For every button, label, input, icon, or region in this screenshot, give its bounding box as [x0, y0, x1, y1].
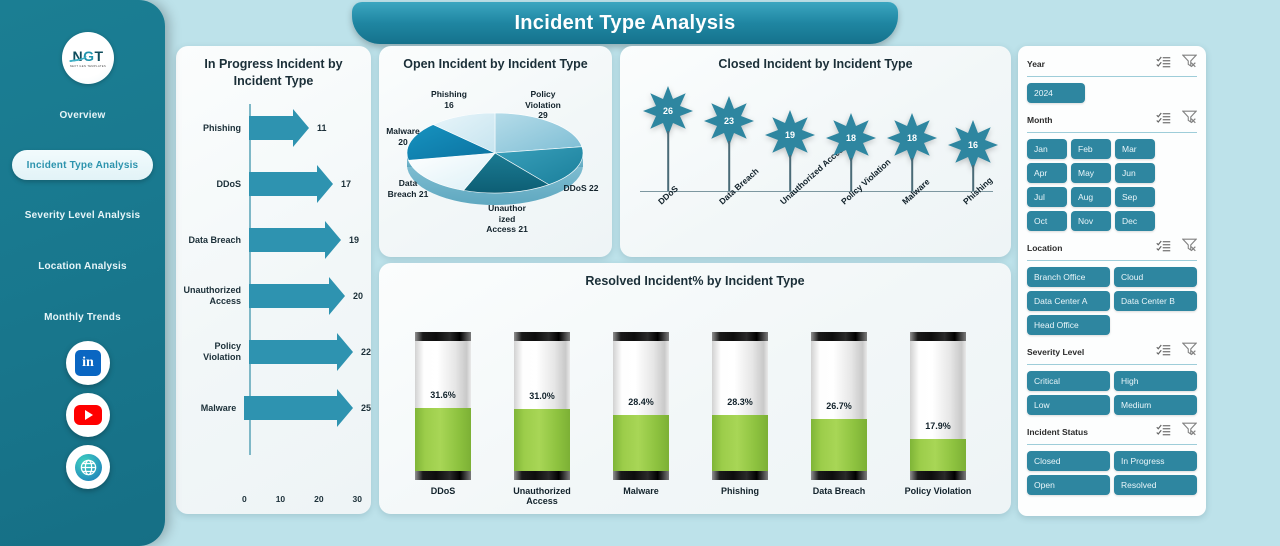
sidebar-item-label: Severity Level Analysis	[25, 210, 140, 221]
bar-value-label: 20	[353, 291, 363, 301]
select-all-icon[interactable]	[1156, 111, 1171, 129]
x-axis-ticks: 0102030	[242, 494, 362, 504]
sidebar: NGT NEXT GEN TEMPLATES Overview Incident…	[0, 0, 165, 546]
filter-group-header: Month	[1027, 110, 1197, 133]
x-axis-line	[640, 191, 993, 193]
filter-chip[interactable]: Apr	[1027, 163, 1067, 183]
filter-group-title: Year	[1027, 59, 1045, 69]
filter-chip[interactable]: 2024	[1027, 83, 1085, 103]
star-icon: 16	[947, 119, 999, 171]
cylinder-value-label: 17.9%	[896, 421, 980, 431]
bar-arrow	[249, 172, 317, 196]
cylinder-cap-bottom	[910, 471, 966, 480]
cylinder-cap-bottom	[415, 471, 471, 480]
star-marker-group: 23	[699, 95, 759, 147]
bar-category-label: UnauthorizedAccess	[176, 285, 246, 306]
sidebar-item-severity-level-analysis[interactable]: Severity Level Analysis	[12, 200, 153, 230]
sidebar-item-label: Location Analysis	[38, 261, 127, 272]
clear-filter-icon[interactable]	[1182, 110, 1197, 129]
bar-value-label: 19	[349, 235, 359, 245]
filter-chip[interactable]: In Progress	[1114, 451, 1197, 471]
sidebar-item-label: Overview	[59, 110, 105, 121]
filter-chip[interactable]: Closed	[1027, 451, 1110, 471]
cylinder-cap-bottom	[613, 471, 669, 480]
bar-category-label: Data Breach	[176, 235, 246, 245]
star-marker-group: 19	[760, 109, 820, 161]
filter-chip[interactable]: Mar	[1115, 139, 1155, 159]
youtube-link[interactable]	[66, 393, 110, 437]
filter-chip[interactable]: Critical	[1027, 371, 1110, 391]
cylinder-group: 17.9%Policy Violation	[896, 332, 980, 496]
filter-chip[interactable]: May	[1071, 163, 1111, 183]
bar-row: Policy Violation22	[176, 324, 371, 380]
bar-arrow	[249, 228, 325, 252]
x-tick-label: 0	[242, 494, 247, 504]
bar-value-label: 11	[317, 123, 327, 133]
cylinder-fill	[514, 409, 570, 480]
logo-tagline: NEXT GEN TEMPLATES	[70, 65, 106, 68]
cylinder-group: 28.3%Phishing	[698, 332, 782, 496]
filter-group-title: Severity Level	[1027, 347, 1084, 357]
chart-in-progress-incident: In Progress Incident by Incident Type Ph…	[176, 46, 371, 514]
filter-chip[interactable]: Branch Office	[1027, 267, 1110, 287]
x-tick-label: 20	[314, 494, 323, 504]
chart-resolved-incident-pct: Resolved Incident% by Incident Type 31.6…	[379, 263, 1011, 514]
linkedin-icon: in	[75, 350, 101, 376]
filter-chip[interactable]: Cloud	[1114, 267, 1197, 287]
clear-filter-icon[interactable]	[1182, 422, 1197, 441]
filter-chip[interactable]: Open	[1027, 475, 1110, 495]
cylinder-category-label: Data Breach	[797, 486, 881, 496]
filter-chip-list: Branch OfficeCloudData Center AData Cent…	[1027, 267, 1197, 335]
globe-icon	[75, 454, 102, 481]
sidebar-item-label: Incident Type Analysis	[27, 160, 139, 171]
cylinder-cap-bottom	[811, 471, 867, 480]
star-stem	[728, 141, 730, 191]
star-value-label: 18	[825, 112, 877, 164]
pie-chart-plot-area: PolicyViolation29 Phishing16 Malware20 D…	[379, 73, 612, 258]
cylinder-group: 26.7%Data Breach	[797, 332, 881, 496]
filter-chip-list: CriticalHighLowMedium	[1027, 371, 1197, 415]
youtube-icon	[74, 405, 102, 425]
cylinder-category-label: Phishing	[698, 486, 782, 496]
pie-label-ddos: DDoS 22	[549, 183, 613, 194]
bar-row: Malware25	[176, 380, 371, 436]
filter-group-header: Year	[1027, 54, 1197, 77]
filter-chip[interactable]: Data Center B	[1114, 291, 1197, 311]
pie-label-phishing: Phishing16	[414, 89, 484, 110]
star-icon: 23	[703, 95, 755, 147]
star-value-label: 16	[947, 119, 999, 171]
sidebar-item-incident-type-analysis[interactable]: Incident Type Analysis	[12, 150, 153, 180]
pie-label-policy-violation: PolicyViolation29	[503, 89, 583, 121]
bar-value-label: 22	[361, 347, 371, 357]
filter-chip[interactable]: Resolved	[1114, 475, 1197, 495]
cylinder-cap-top	[613, 332, 669, 341]
cylinder-cap-top	[811, 332, 867, 341]
filter-chip[interactable]: Head Office	[1027, 315, 1110, 335]
bar-arrow	[249, 340, 337, 364]
filter-chip-list: ClosedIn ProgressOpenResolved	[1027, 451, 1197, 495]
filter-group-header: Severity Level	[1027, 342, 1197, 365]
star-icon: 18	[886, 112, 938, 164]
cylinder-cap-top	[712, 332, 768, 341]
filter-chip-list: 2024	[1027, 83, 1197, 103]
bar-row: UnauthorizedAccess20	[176, 268, 371, 324]
star-category-label: DDoS	[656, 183, 680, 206]
cylinder-cap-bottom	[514, 471, 570, 480]
page-header-banner: Incident Type Analysis	[352, 2, 898, 44]
bar-row: DDoS17	[176, 156, 371, 212]
filter-group-severity-level: Severity LevelCriticalHighLowMedium	[1027, 342, 1197, 415]
select-all-icon[interactable]	[1156, 239, 1171, 257]
cylinder-group: 31.6%DDoS	[401, 332, 485, 496]
star-stem	[667, 131, 669, 191]
cylinder-cap-top	[415, 332, 471, 341]
sidebar-item-overview[interactable]: Overview	[12, 100, 153, 130]
filter-group-location: LocationBranch OfficeCloudData Center AD…	[1027, 238, 1197, 335]
filter-chip[interactable]: Nov	[1071, 211, 1111, 231]
filter-chip[interactable]: High	[1114, 371, 1197, 391]
chart-title-line2: Incident Type	[234, 74, 314, 88]
star-icon: 26	[642, 85, 694, 137]
bar-row: Data Breach19	[176, 212, 371, 268]
cylinder-cap-bottom	[712, 471, 768, 480]
cylinder-value-label: 28.3%	[698, 397, 782, 407]
cylinder-value-label: 31.0%	[500, 391, 584, 401]
filter-group-year: Year2024	[1027, 54, 1197, 103]
filter-group-title: Month	[1027, 115, 1053, 125]
clear-filter-icon[interactable]	[1182, 238, 1197, 257]
filter-chip[interactable]: Aug	[1071, 187, 1111, 207]
filter-panel: Year2024MonthJanFebMarAprMayJunJulAugSep…	[1018, 46, 1206, 516]
star-icon: 18	[825, 112, 877, 164]
chart-title: Closed Incident by Incident Type	[620, 46, 1011, 73]
pie-label-malware: Malware20	[375, 126, 431, 147]
cylinder-category-label: DDoS	[401, 486, 485, 496]
bar-arrow	[244, 396, 337, 420]
logo-letter-t: T	[94, 48, 103, 64]
bar-category-label: Malware	[176, 403, 241, 413]
filter-group-incident-status: Incident StatusClosedIn ProgressOpenReso…	[1027, 422, 1197, 495]
filter-group-title: Incident Status	[1027, 427, 1088, 437]
sidebar-item-label: Monthly Trends	[44, 312, 121, 323]
star-marker-group: 16	[943, 119, 1003, 171]
cylinder-value-label: 26.7%	[797, 401, 881, 411]
filter-chip[interactable]: Sep	[1115, 187, 1155, 207]
clear-filter-icon[interactable]	[1182, 54, 1197, 73]
x-tick-label: 30	[353, 494, 362, 504]
x-tick-label: 10	[276, 494, 285, 504]
star-chart-plot-area: 26DDoS23Data Breach19Unauthorized Access…	[620, 73, 1011, 258]
cylinder-category-label: Malware	[599, 486, 683, 496]
star-category-label: Policy Violation	[839, 157, 893, 207]
bar-chart-plot-area: Phishing11DDoS17Data Breach19Unauthorize…	[176, 94, 371, 512]
cylinder-category-label: Policy Violation	[896, 486, 980, 496]
filter-group-header: Incident Status	[1027, 422, 1197, 445]
clear-filter-icon[interactable]	[1182, 342, 1197, 361]
website-link[interactable]	[66, 445, 110, 489]
filter-chip[interactable]: Jul	[1027, 187, 1067, 207]
star-value-label: 18	[886, 112, 938, 164]
chart-closed-incident: Closed Incident by Incident Type 26DDoS2…	[620, 46, 1011, 257]
cylinder-value-label: 28.4%	[599, 397, 683, 407]
cylinder-value-label: 31.6%	[401, 390, 485, 400]
linkedin-link[interactable]: in	[66, 341, 110, 385]
sidebar-item-location-analysis[interactable]: Location Analysis	[12, 251, 153, 281]
bar-value-label: 25	[361, 403, 371, 413]
star-marker-group: 26	[638, 85, 698, 137]
bar-category-label: DDoS	[176, 179, 246, 189]
sidebar-item-monthly-trends[interactable]: Monthly Trends	[12, 302, 153, 332]
chart-title: Resolved Incident% by Incident Type	[379, 263, 1011, 290]
filter-chip[interactable]: Feb	[1071, 139, 1111, 159]
bar-arrow	[249, 116, 293, 140]
cylinder-category-label: Unauthorized Access	[500, 486, 584, 506]
star-stem	[789, 155, 791, 191]
cylinder-group: 28.4%Malware	[599, 332, 683, 496]
chart-open-incident: Open Incident by Incident Type	[379, 46, 612, 257]
filter-chip[interactable]: Oct	[1027, 211, 1067, 231]
app-logo: NGT NEXT GEN TEMPLATES	[62, 32, 114, 84]
pie-label-data-breach: DataBreach 21	[377, 178, 439, 199]
filter-chip[interactable]: Data Center A	[1027, 291, 1110, 311]
select-all-icon[interactable]	[1156, 343, 1171, 361]
cylinder-chart-plot-area: 31.6%DDoS31.0%Unauthorized Access28.4%Ma…	[379, 290, 1011, 511]
star-marker-group: 18	[821, 112, 881, 164]
pie-label-unauthorized-access: UnauthorizedAccess 21	[469, 203, 545, 235]
star-marker-group: 18	[882, 112, 942, 164]
cylinder-tube	[415, 332, 471, 480]
bar-category-label: Phishing	[176, 123, 246, 133]
cylinder-cap-top	[910, 332, 966, 341]
filter-group-title: Location	[1027, 243, 1062, 253]
filter-chip[interactable]: Jan	[1027, 139, 1067, 159]
bar-arrow	[249, 284, 329, 308]
filter-chip[interactable]: Medium	[1114, 395, 1197, 415]
bar-row: Phishing11	[176, 100, 371, 156]
cylinder-tube	[514, 332, 570, 480]
star-value-label: 19	[764, 109, 816, 161]
page-title: Incident Type Analysis	[514, 12, 735, 35]
bar-category-label: Policy Violation	[176, 341, 246, 362]
chart-title: In Progress Incident by Incident Type	[176, 46, 371, 90]
filter-chip[interactable]: Dec	[1115, 211, 1155, 231]
cylinder-fill	[415, 408, 471, 480]
filter-chip-list: JanFebMarAprMayJunJulAugSepOctNovDec	[1027, 139, 1197, 231]
cylinder-group: 31.0%Unauthorized Access	[500, 332, 584, 506]
star-value-label: 23	[703, 95, 755, 147]
cylinder-tube	[910, 332, 966, 480]
filter-chip[interactable]: Jun	[1115, 163, 1155, 183]
chart-title: Open Incident by Incident Type	[379, 46, 612, 73]
filter-chip[interactable]: Low	[1027, 395, 1110, 415]
select-all-icon[interactable]	[1156, 423, 1171, 441]
chart-title-line1: In Progress Incident by	[204, 57, 342, 71]
cylinder-cap-top	[514, 332, 570, 341]
star-value-label: 26	[642, 85, 694, 137]
select-all-icon[interactable]	[1156, 55, 1171, 73]
filter-group-month: MonthJanFebMarAprMayJunJulAugSepOctNovDe…	[1027, 110, 1197, 231]
bar-value-label: 17	[341, 179, 351, 189]
star-category-label: Data Breach	[717, 166, 761, 207]
filter-group-header: Location	[1027, 238, 1197, 261]
star-icon: 19	[764, 109, 816, 161]
